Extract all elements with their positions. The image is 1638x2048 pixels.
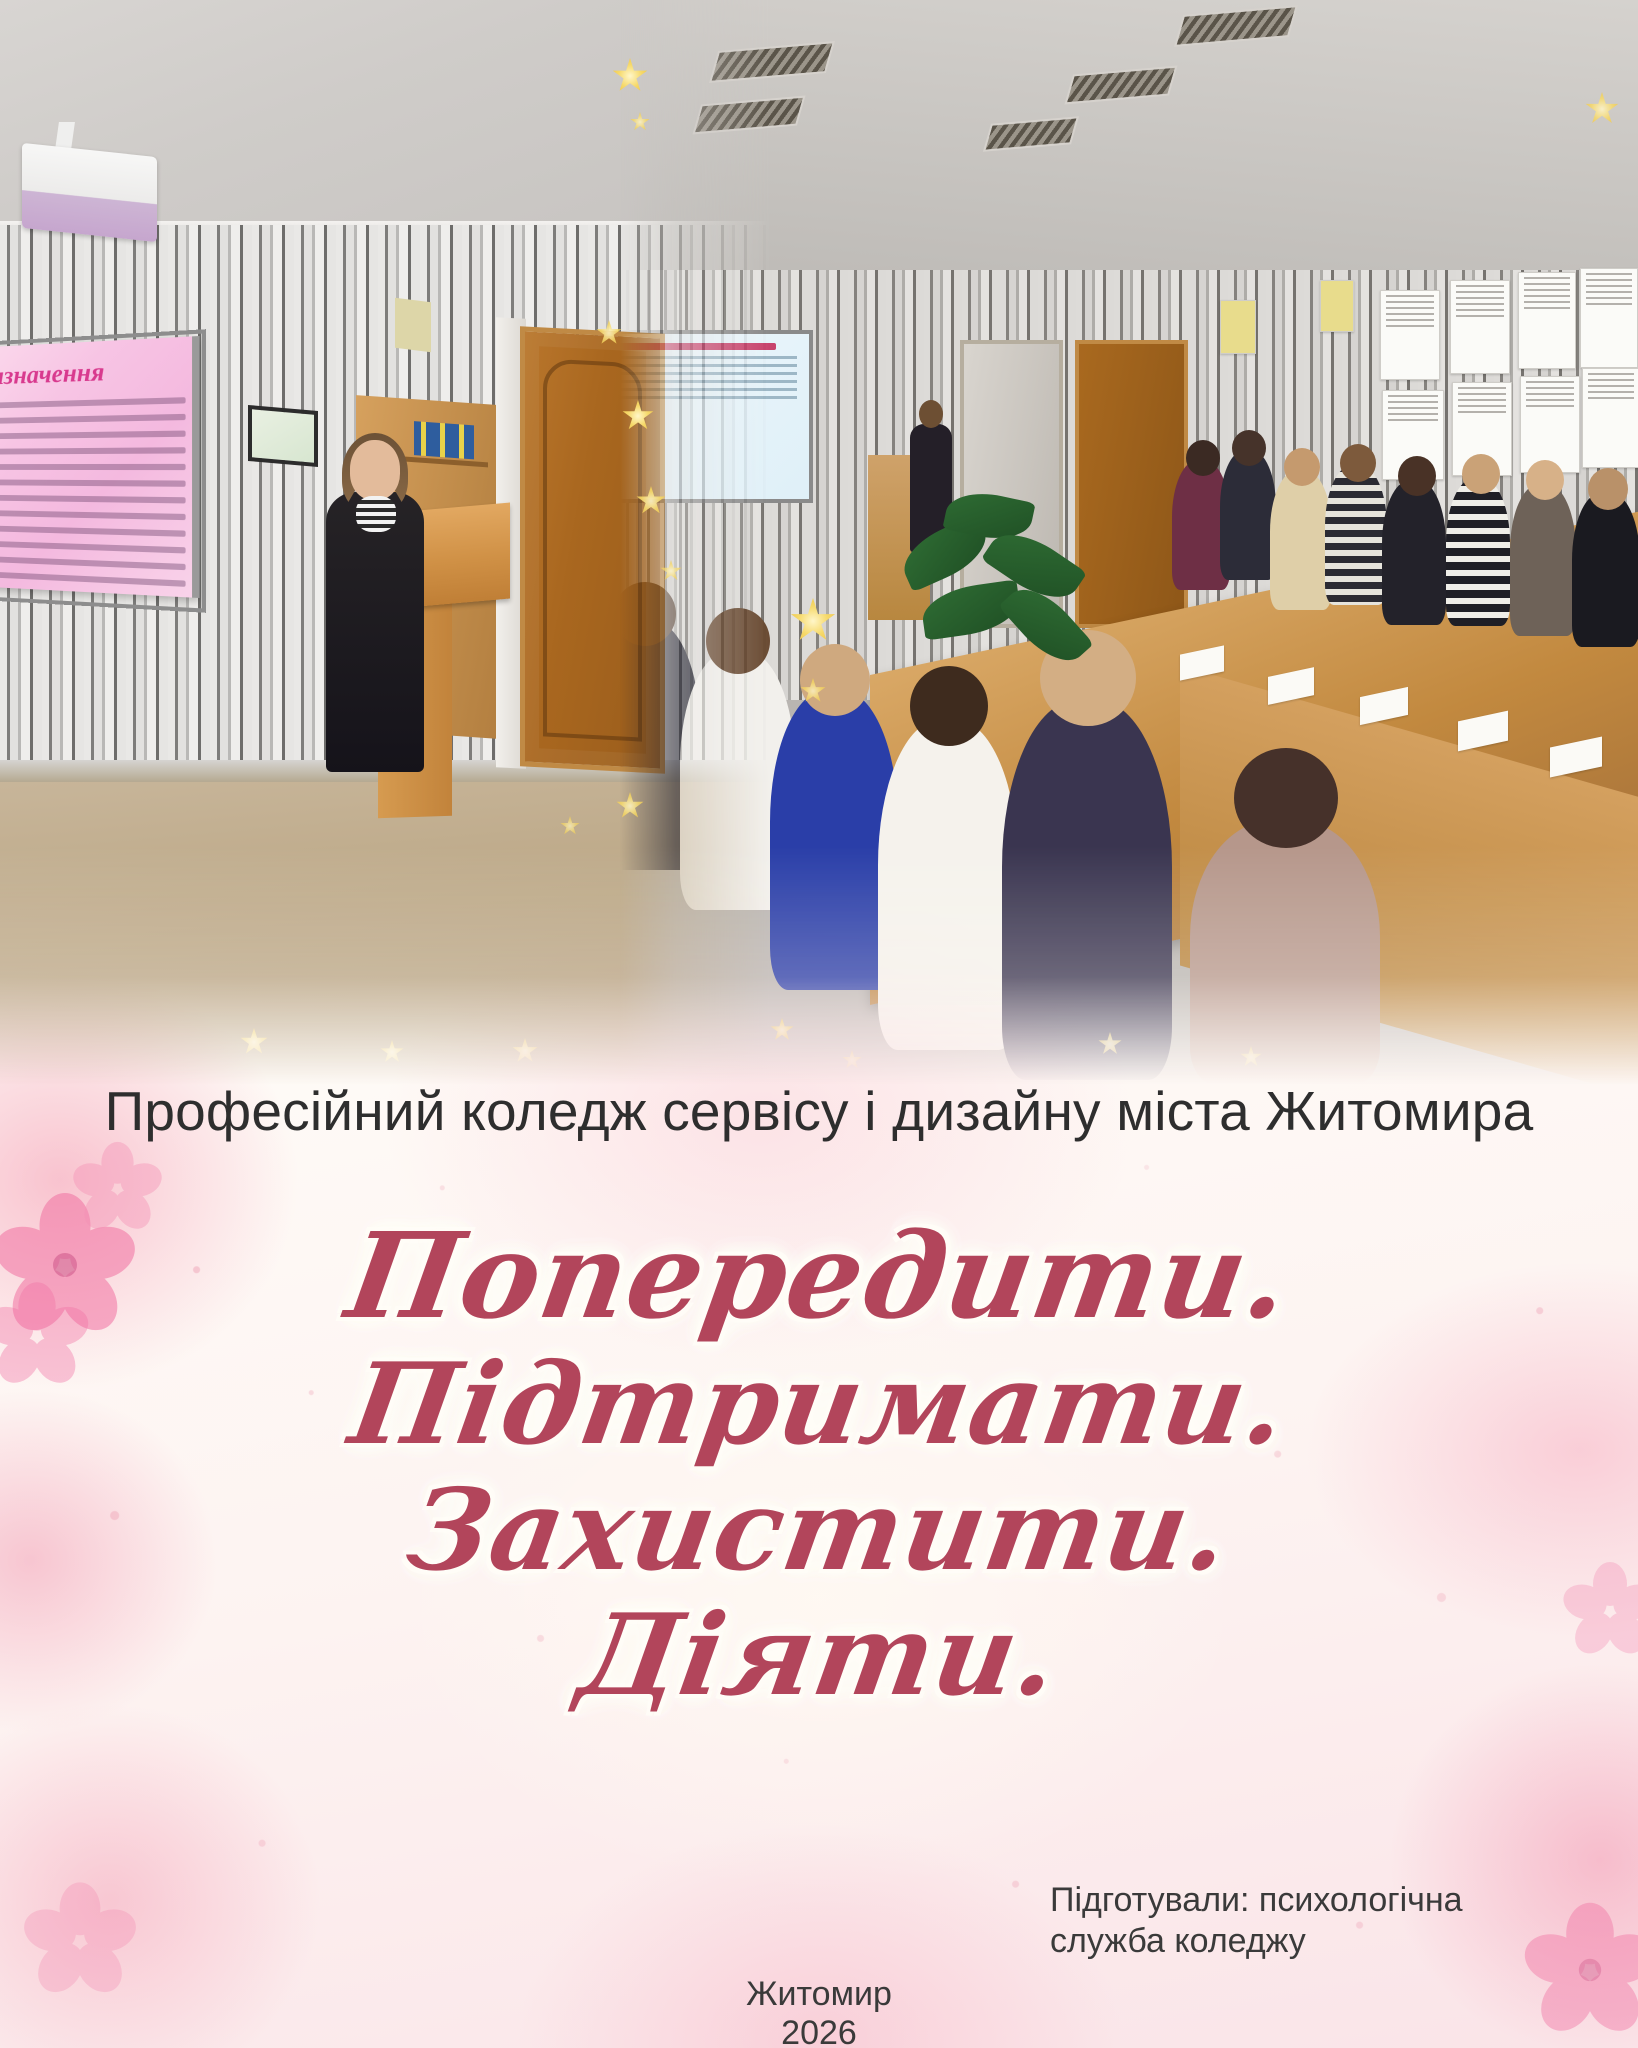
year-label: 2026 xyxy=(0,2014,1638,2048)
wall-poster xyxy=(1580,268,1638,368)
audience-person xyxy=(1002,700,1172,1080)
audience-head xyxy=(706,608,770,674)
screen-frame xyxy=(0,329,206,613)
audience-head xyxy=(1284,448,1320,486)
wall-poster xyxy=(1520,376,1580,473)
audience-person xyxy=(1446,478,1510,626)
whiteboard-slide xyxy=(620,330,813,503)
wall-poster xyxy=(1380,290,1440,380)
audience-head xyxy=(1462,454,1500,494)
speaker-body xyxy=(326,492,424,772)
potted-plant xyxy=(890,490,1100,680)
city-year-block: Житомир 2026 xyxy=(0,1975,1638,2048)
speaker-scarf xyxy=(356,496,396,532)
wall-plaque xyxy=(395,298,431,352)
audience-person xyxy=(878,720,1018,1050)
audience-person xyxy=(1325,465,1387,605)
slogan-line-3: Захистити. xyxy=(0,1468,1638,1593)
slide-heading-bar xyxy=(620,343,776,350)
wall-poster xyxy=(1450,280,1510,374)
audience-head xyxy=(1234,748,1338,848)
slogan-line-1: Попередити. xyxy=(0,1210,1638,1342)
slogan-line-2: Підтримати. xyxy=(0,1342,1638,1467)
photo-collage: Визначення xyxy=(0,0,1638,1085)
wall-poster xyxy=(1220,300,1256,354)
audience-head xyxy=(1588,468,1628,510)
slogan-block: Попередити. Підтримати. Захистити. Діяти… xyxy=(0,1210,1638,1718)
audience-person xyxy=(1572,492,1638,647)
credit-text: Підготували: психологічна служба коледжу xyxy=(1050,1880,1570,1962)
ceiling-projector xyxy=(22,143,157,242)
audience-person xyxy=(1382,480,1446,625)
college-title: Професійний коледж сервісу і дизайну міс… xyxy=(0,1082,1638,1141)
city-label: Житомир xyxy=(0,1975,1638,2014)
audience-head xyxy=(800,644,870,716)
conference-room-audience-photo xyxy=(620,0,1638,1085)
wall-certificate xyxy=(248,405,318,467)
wall-poster xyxy=(1320,280,1354,332)
speaker-head xyxy=(350,440,400,500)
audience-person xyxy=(1510,484,1576,636)
audience-head xyxy=(1526,460,1564,500)
poster-canvas: Визначення xyxy=(0,0,1638,2048)
wall-poster xyxy=(1518,272,1576,369)
audience-person xyxy=(1190,820,1380,1085)
audience-person xyxy=(1270,470,1332,610)
presenter-head xyxy=(919,400,943,428)
ceiling xyxy=(620,0,1638,300)
audience-head xyxy=(1340,444,1376,482)
audience-person xyxy=(1220,450,1276,580)
audience-head xyxy=(1232,430,1266,466)
speaker-person xyxy=(332,440,418,770)
audience-head xyxy=(1398,456,1436,496)
audience-head xyxy=(1186,440,1220,476)
wall-poster xyxy=(1582,368,1638,468)
slogan-line-4: Діяти. xyxy=(0,1593,1638,1718)
books xyxy=(414,421,474,459)
